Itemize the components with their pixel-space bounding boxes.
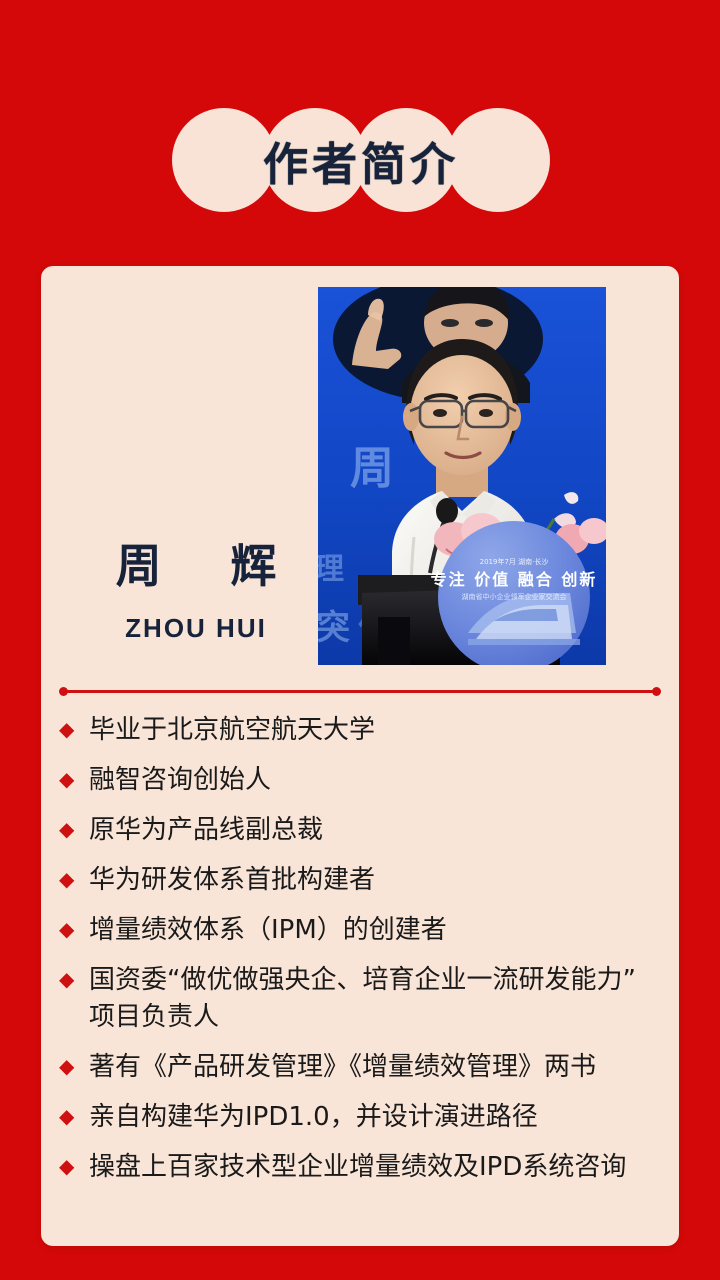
list-item-text: 华为研发体系首批构建者 — [89, 862, 669, 899]
diamond-bullet-icon: ◆ — [59, 912, 89, 949]
svg-text:专注 价值 融合 创新: 专注 价值 融合 创新 — [431, 570, 598, 589]
list-item: ◆ 原华为产品线副总裁 — [59, 812, 669, 849]
divider-dot-right — [652, 687, 661, 696]
list-item-text: 毕业于北京航空航天大学 — [89, 712, 669, 749]
diamond-bullet-icon: ◆ — [59, 1099, 89, 1136]
profile-photo: 周 理 突 体 — [318, 287, 606, 665]
svg-text:理: 理 — [318, 552, 344, 587]
diamond-bullet-icon: ◆ — [59, 1049, 89, 1086]
diamond-bullet-icon: ◆ — [59, 962, 89, 999]
diamond-bullet-icon: ◆ — [59, 862, 89, 899]
diamond-bullet-icon: ◆ — [59, 812, 89, 849]
svg-text:2019年7月 湖南·长沙: 2019年7月 湖南·长沙 — [480, 557, 549, 566]
list-item-text: 融智咨询创始人 — [89, 762, 669, 799]
list-item-text: 原华为产品线副总裁 — [89, 812, 669, 849]
credentials-list: ◆ 毕业于北京航空航天大学 ◆ 融智咨询创始人 ◆ 原华为产品线副总裁 ◆ 华为… — [59, 712, 669, 1199]
svg-text:湖南省中小企业领军企业家交流会: 湖南省中小企业领军企业家交流会 — [462, 592, 567, 601]
poster-root: 作者简介 周 辉 ZHOU HUI — [0, 0, 720, 1280]
list-item: ◆ 著有《产品研发管理》《增量绩效管理》两书 — [59, 1049, 669, 1086]
page-title: 作者简介 — [172, 108, 550, 212]
profile-card: 周 辉 ZHOU HUI — [41, 266, 679, 1246]
list-item: ◆ 增量绩效体系（IPM）的创建者 — [59, 912, 669, 949]
list-item: ◆ 毕业于北京航空航天大学 — [59, 712, 669, 749]
section-divider — [59, 687, 661, 696]
svg-text:周: 周 — [350, 443, 394, 494]
list-item: ◆ 操盘上百家技术型企业增量绩效及IPD系统咨询 — [59, 1149, 669, 1186]
profile-name-en: ZHOU HUI — [41, 615, 351, 641]
list-item-text: 著有《产品研发管理》《增量绩效管理》两书 — [89, 1049, 669, 1086]
diamond-bullet-icon: ◆ — [59, 762, 89, 799]
divider-line — [64, 690, 656, 693]
diamond-bullet-icon: ◆ — [59, 1149, 89, 1186]
list-item: ◆ 亲自构建华为IPD1.0，并设计演进路径 — [59, 1099, 669, 1136]
svg-text:突: 突 — [318, 608, 350, 648]
list-item: ◆ 融智咨询创始人 — [59, 762, 669, 799]
list-item-text: 操盘上百家技术型企业增量绩效及IPD系统咨询 — [89, 1149, 669, 1186]
list-item: ◆ 国资委“做优做强央企、培育企业一流研发能力” 项目负责人 — [59, 962, 669, 1036]
list-item-text: 国资委“做优做强央企、培育企业一流研发能力” 项目负责人 — [89, 962, 669, 1036]
profile-name-cn: 周 辉 — [41, 543, 351, 589]
list-item-text: 增量绩效体系（IPM）的创建者 — [89, 912, 669, 949]
list-item: ◆ 华为研发体系首批构建者 — [59, 862, 669, 899]
diamond-bullet-icon: ◆ — [59, 712, 89, 749]
list-item-text: 亲自构建华为IPD1.0，并设计演进路径 — [89, 1099, 669, 1136]
